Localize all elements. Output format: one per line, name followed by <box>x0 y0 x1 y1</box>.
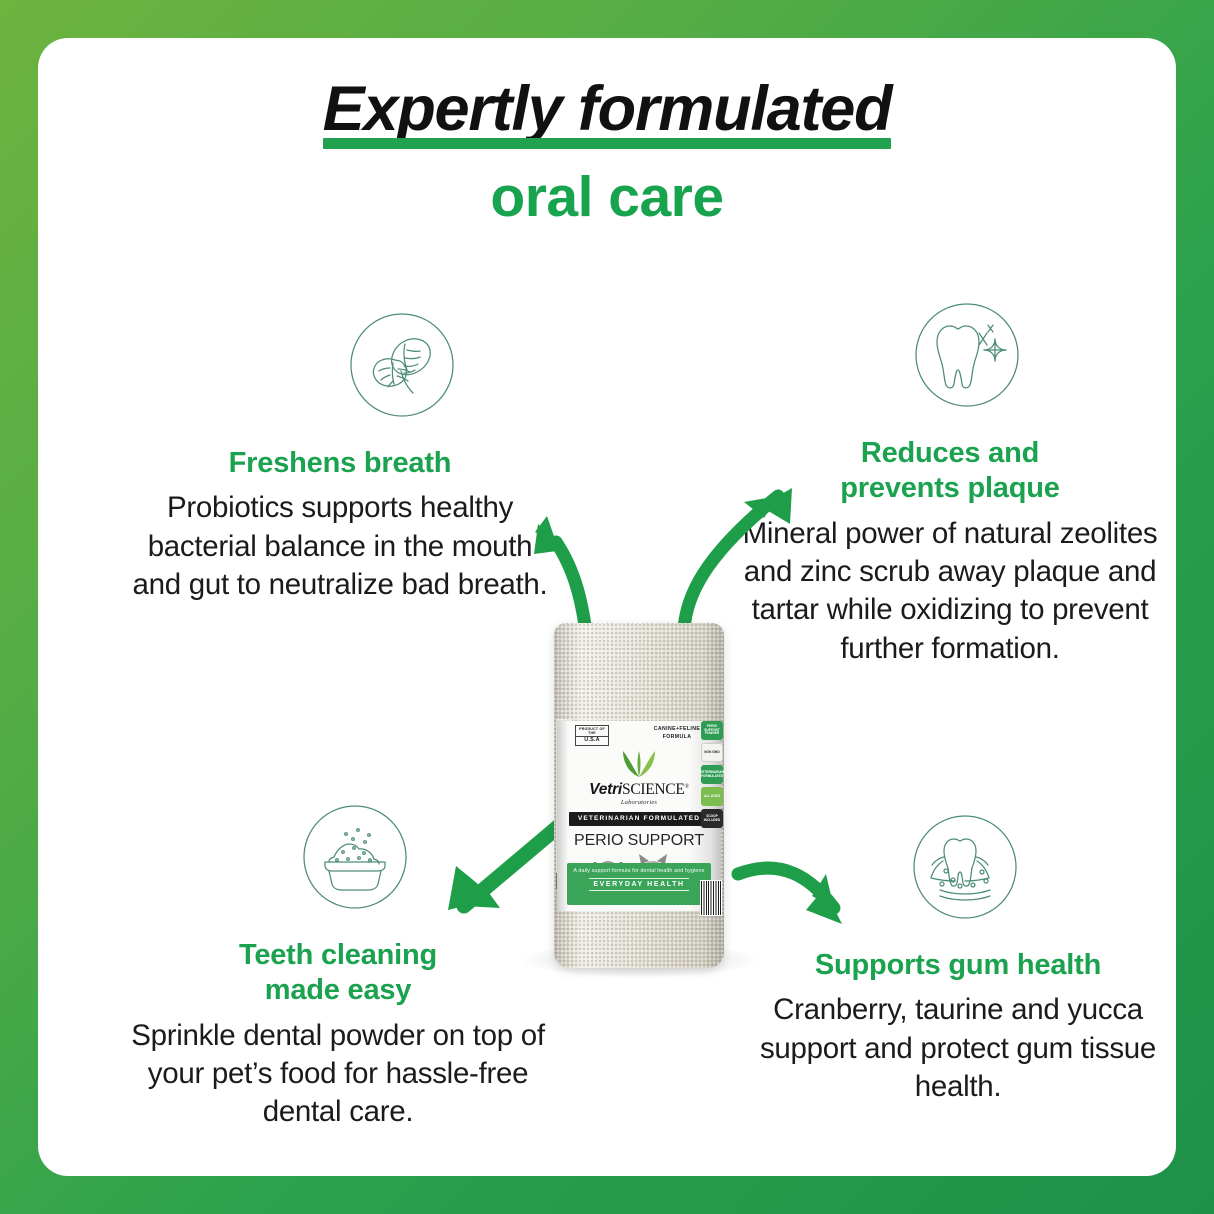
badge-scoop-included: SCOOP INCLUDED <box>701 809 723 828</box>
badge-vet-formulated: VETERINARIAN FORMULATED <box>701 765 723 784</box>
barcode <box>700 880 722 916</box>
feature-title-line2: made easy <box>265 974 412 1006</box>
country-badge-small: PRODUCT OF THE <box>579 727 605 735</box>
brand-wordmark: VetriSCIENCE® <box>557 782 721 798</box>
formula-line2: FORMULA <box>663 734 692 740</box>
brand-logo: VetriSCIENCE® Laboratories <box>557 748 721 806</box>
product-title: PERIO SUPPORT <box>557 832 721 850</box>
feature-teeth-cleaning: Teeth cleaning made easy Sprinkle dental… <box>118 790 558 1132</box>
bottle-label: PRODUCT OF THE U.S.A CANINE+FELINE FORMU… <box>557 721 721 911</box>
feature-title-line1: Reduces and <box>861 437 1039 469</box>
feature-freshens-breath: Freshens breath Probiotics supports heal… <box>130 298 550 604</box>
bottle-body: PRODUCT OF THE U.S.A CANINE+FELINE FORMU… <box>554 623 724 968</box>
page-title: Expertly formulated <box>319 76 896 146</box>
feature-reduces-plaque: Reduces and prevents plaque Mineral powe… <box>740 288 1160 668</box>
category-band: A daily support formula for dental healt… <box>567 863 711 905</box>
label-top-row: PRODUCT OF THE U.S.A CANINE+FELINE FORMU… <box>557 721 721 747</box>
feature-title: Reduces and prevents plaque <box>740 436 1160 507</box>
page-title-text: Expertly formulated <box>323 74 892 144</box>
infographic-canvas: Expertly formulated oral care <box>0 0 1214 1214</box>
badge-all-ages: ALL AGES <box>701 787 723 806</box>
brand-registered-mark: ® <box>685 784 689 790</box>
pet-food-bowl-icon <box>288 790 422 924</box>
badge-non-gmo: NON GMO <box>701 743 723 762</box>
product-description: A daily support formula for dental healt… <box>567 867 711 875</box>
feature-title: Freshens breath <box>130 446 550 481</box>
product-bottle: PRODUCT OF THE U.S.A CANINE+FELINE FORMU… <box>554 623 724 968</box>
formula-type: CANINE+FELINE FORMULA <box>647 726 707 742</box>
veterinarian-banner: VETERINARIAN FORMULATED <box>569 812 709 826</box>
feature-title: Supports gum health <box>738 948 1176 983</box>
brand-science: SCIENCE <box>622 781 685 798</box>
feature-title: Teeth cleaning made easy <box>118 938 558 1009</box>
feature-description: Cranberry, taurine and yucca support and… <box>738 991 1176 1106</box>
certification-badges: PERIO SUPPORT POWDER NON GMO VETERINARIA… <box>699 719 724 869</box>
sparkling-tooth-icon <box>900 288 1034 422</box>
feature-description: Mineral power of natural zeolites and zi… <box>740 515 1160 668</box>
header: Expertly formulated oral care <box>38 76 1176 228</box>
formula-line1: CANINE+FELINE <box>654 726 701 732</box>
feature-description: Probiotics supports healthy bacterial ba… <box>130 489 550 604</box>
feature-title-line1: Teeth cleaning <box>239 939 437 971</box>
everyday-health-band: EVERYDAY HEALTH <box>589 878 689 891</box>
country-badge-text: U.S.A <box>576 736 608 744</box>
leaf-v-logo-icon <box>619 748 659 780</box>
feature-title-line2: prevents plaque <box>840 472 1059 504</box>
title-underline-bar <box>323 138 892 149</box>
brand-sub: Laboratories <box>557 799 721 806</box>
badge-perio-powder: PERIO SUPPORT POWDER <box>701 721 723 740</box>
tooth-in-gum-icon <box>898 800 1032 934</box>
feature-description: Sprinkle dental powder on top of your pe… <box>118 1017 558 1132</box>
feature-gum-health: Supports gum health Cranberry, taurine a… <box>738 800 1176 1106</box>
page-subtitle: oral care <box>38 168 1176 228</box>
mint-leaf-icon <box>335 298 469 432</box>
content-card: Expertly formulated oral care <box>38 38 1176 1176</box>
brand-vetri: Vetri <box>589 781 622 798</box>
country-badge: PRODUCT OF THE U.S.A <box>575 725 609 746</box>
